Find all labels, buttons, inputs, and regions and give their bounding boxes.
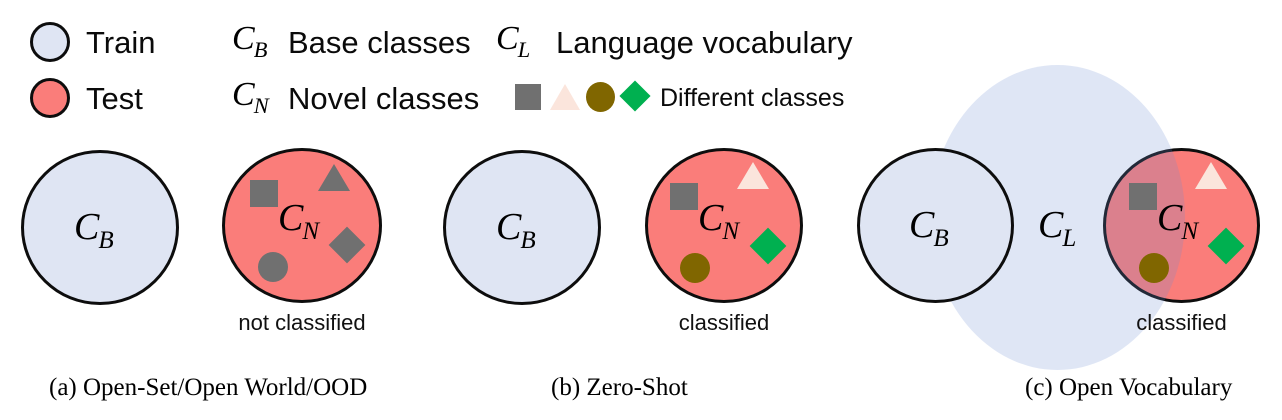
legend-shape-diamond-icon <box>619 80 650 111</box>
panel-a-train-label-c: C <box>74 206 99 248</box>
legend-language-vocab-symbol-sub: L <box>518 37 530 62</box>
legend-base-classes-symbol-c: C <box>232 20 255 57</box>
legend-novel-classes-symbol: CN <box>232 78 269 117</box>
panel-a-train-label-sub: B <box>98 227 113 254</box>
legend-language-vocab-label: Language vocabulary <box>556 27 852 58</box>
panel-a-marker-square <box>250 180 278 207</box>
open-vocabulary-concept-figure: Train CB Base classes CL Language vocabu… <box>0 0 1282 420</box>
panel-c-test-label-c: C <box>1157 197 1182 239</box>
panel-a-test-label: CN <box>278 199 319 244</box>
legend-shape-square-icon <box>515 84 541 110</box>
panel-c-test-label-sub: N <box>1181 218 1198 245</box>
panel-b-caption: (b) Zero-Shot <box>551 375 688 400</box>
panel-b-status-label: classified <box>645 312 803 334</box>
panel-a-train-label: CB <box>74 208 114 253</box>
legend-novel-classes-label: Novel classes <box>288 83 479 114</box>
panel-b-train-label-sub: B <box>520 227 535 254</box>
panel-a-caption: (a) Open-Set/Open World/OOD <box>49 375 367 400</box>
panel-a-status-label: not classified <box>222 312 382 334</box>
legend-base-classes-symbol-sub: B <box>254 37 268 62</box>
panel-c-train-label: CB <box>909 206 949 251</box>
panel-c-caption: (c) Open Vocabulary <box>1025 375 1232 400</box>
panel-c-vocab-label: CL <box>1038 206 1076 251</box>
legend-language-vocab-symbol-c: C <box>496 20 519 57</box>
panel-b-marker-circle <box>680 253 710 283</box>
legend-shape-circle-icon <box>586 82 615 112</box>
legend-language-vocab-symbol: CL <box>496 22 530 61</box>
legend-test-label: Test <box>86 83 143 114</box>
legend-different-classes-label: Different classes <box>660 86 844 111</box>
legend-novel-classes-symbol-sub: N <box>254 93 269 118</box>
panel-c-status-label: classified <box>1103 312 1260 334</box>
panel-b-test-label-sub: N <box>722 218 739 245</box>
legend-shape-triangle-icon <box>550 84 580 110</box>
panel-b-test-label-c: C <box>698 197 723 239</box>
panel-b-test-label: CN <box>698 199 739 244</box>
panel-a-marker-circle <box>258 252 288 282</box>
legend-base-classes-label: Base classes <box>288 27 471 58</box>
legend-base-classes-symbol: CB <box>232 22 268 61</box>
panel-c-marker-square <box>1129 183 1157 210</box>
legend-test-swatch-icon <box>30 78 70 118</box>
panel-c-train-label-sub: B <box>933 225 948 252</box>
panel-b-train-label-c: C <box>496 206 521 248</box>
panel-b-marker-square <box>670 183 698 210</box>
panel-a-test-label-c: C <box>278 197 303 239</box>
panel-c-vocab-label-c: C <box>1038 204 1063 246</box>
panel-c-vocab-label-sub: L <box>1062 225 1076 252</box>
panel-c-test-label: CN <box>1157 199 1198 244</box>
legend-novel-classes-symbol-c: C <box>232 76 255 113</box>
legend-train-label: Train <box>86 27 155 58</box>
panel-a-test-label-sub: N <box>302 218 319 245</box>
panel-c-train-label-c: C <box>909 204 934 246</box>
panel-b-marker-triangle <box>737 162 769 189</box>
legend-train-swatch-icon <box>30 22 70 62</box>
panel-c-marker-triangle <box>1195 162 1227 189</box>
panel-a-marker-triangle <box>318 164 350 191</box>
panel-b-train-label: CB <box>496 208 536 253</box>
panel-c-marker-circle <box>1139 253 1169 283</box>
